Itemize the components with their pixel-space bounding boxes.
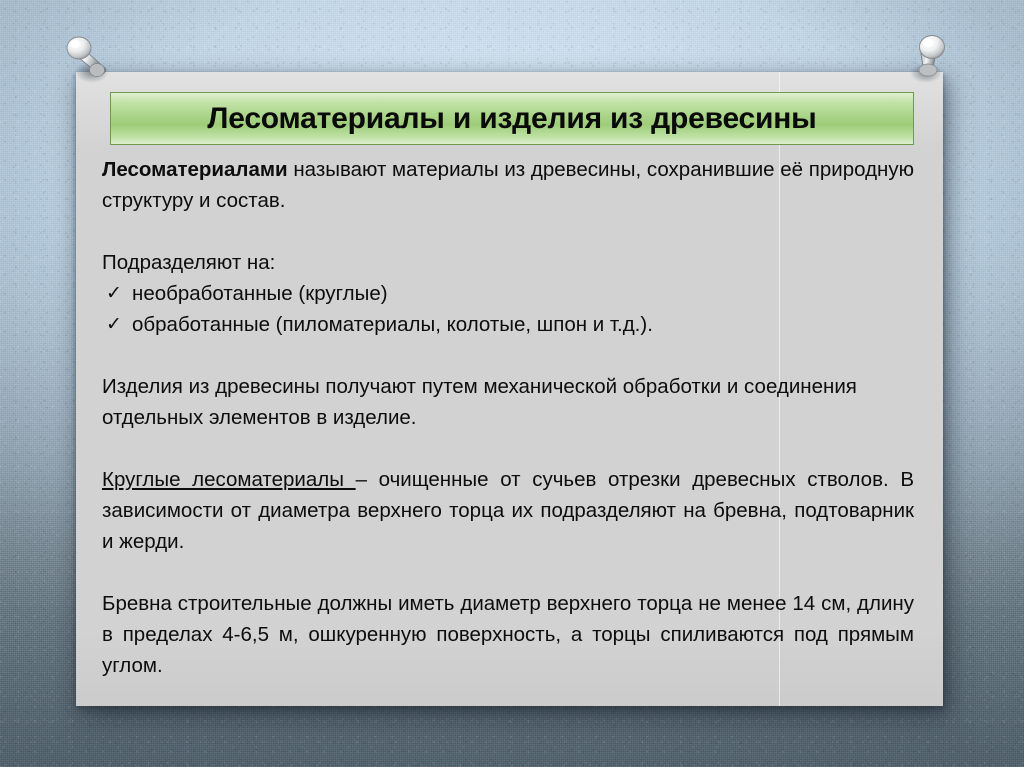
slide-title-plaque: Лесоматериалы и изделия из древесины (110, 92, 914, 145)
term-lesomaterialami: Лесоматериалами (102, 158, 288, 181)
list-item: ✓ необработанные (круглые) (102, 278, 914, 309)
spacer (102, 340, 914, 371)
list-item-label: необработанные (круглые) (132, 282, 388, 305)
spacer (102, 557, 914, 588)
term-round-timber: Круглые лесоматериалы (102, 468, 356, 491)
paragraph-logs-spec: Бревна строительные должны иметь диаметр… (102, 588, 914, 681)
list-item-label: обработанные (пиломатериалы, колотые, шп… (132, 313, 653, 336)
slide-paper-card: Лесоматериалы и изделия из древесины Лес… (76, 72, 943, 706)
checkmark-icon: ✓ (106, 309, 122, 340)
slide-canvas: Лесоматериалы и изделия из древесины Лес… (0, 0, 1024, 767)
paragraph-definition: Лесоматериалами называют материалы из др… (102, 154, 914, 216)
paragraph-products: Изделия из древесины получают путем меха… (102, 371, 914, 433)
slide-body: Лесоматериалами называют материалы из др… (102, 154, 914, 681)
spacer (102, 216, 914, 247)
subdivide-label: Подразделяют на: (102, 247, 914, 278)
page-title: Лесоматериалы и изделия из древесины (207, 104, 816, 134)
checkmark-icon: ✓ (106, 278, 122, 309)
list-item: ✓ обработанные (пиломатериалы, колотые, … (102, 309, 914, 340)
paragraph-round-timber: Круглые лесоматериалы – очищенные от суч… (102, 464, 914, 557)
spacer (102, 433, 914, 464)
classification-list: ✓ необработанные (круглые) ✓ обработанны… (102, 278, 914, 340)
